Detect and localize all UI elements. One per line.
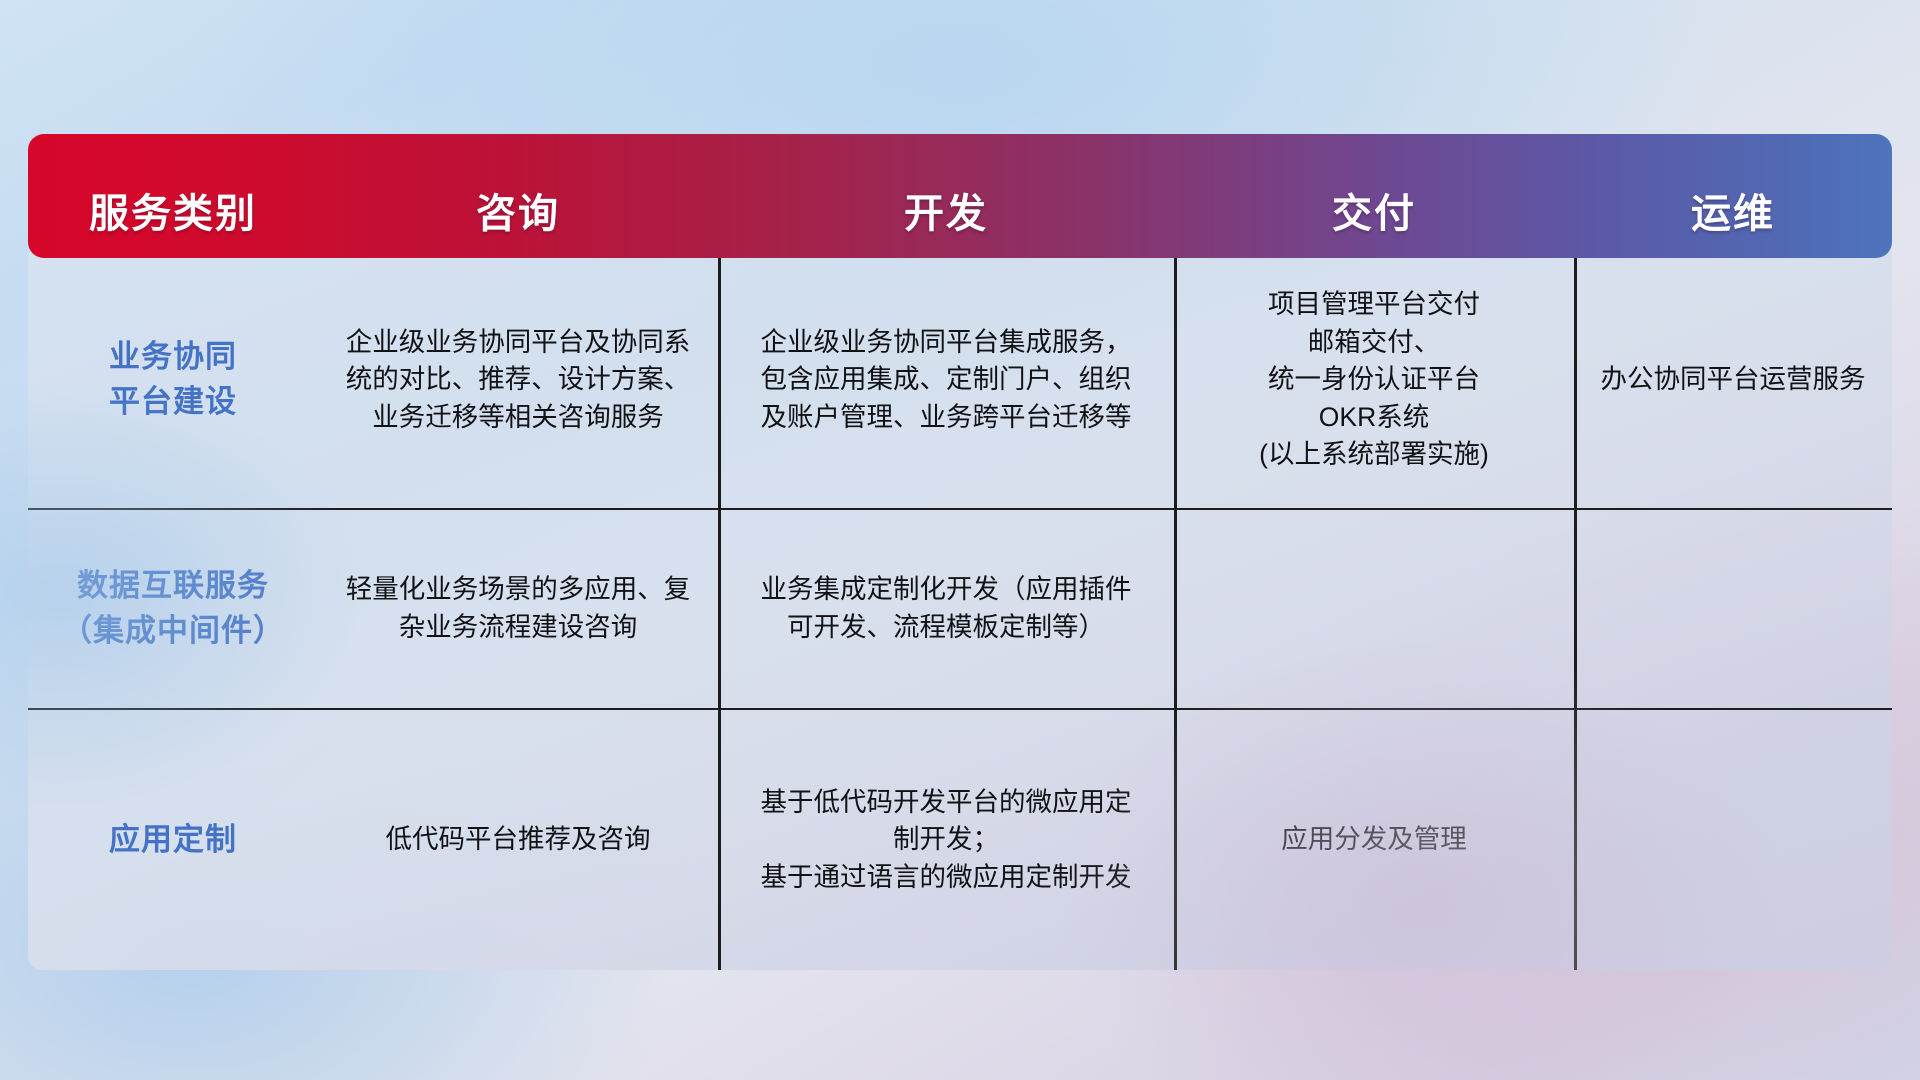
- table-body: 业务协同 平台建设 企业级业务协同平台及协同系 统的对比、推荐、设计方案、 业务…: [28, 252, 1892, 970]
- slide-canvas: 服务类别 咨询 开发 交付 运维 业务协同 平台建设 企业级业务协同平台及协同系…: [0, 0, 1920, 1080]
- cell-delivery: 项目管理平台交付 邮箱交付、 统一身份认证平台 OKR系统 (以上系统部署实施): [1174, 252, 1574, 508]
- table-header-operations: 运维: [1574, 134, 1892, 258]
- cell-operations: [1574, 710, 1892, 970]
- service-matrix-table: 服务类别 咨询 开发 交付 运维 业务协同 平台建设 企业级业务协同平台及协同系…: [28, 134, 1892, 970]
- table-row: 业务协同 平台建设 企业级业务协同平台及协同系 统的对比、推荐、设计方案、 业务…: [28, 252, 1892, 508]
- cell-consulting: 轻量化业务场景的多应用、复 杂业务流程建设咨询: [318, 510, 718, 708]
- cell-development: 企业级业务协同平台集成服务， 包含应用集成、定制门户、组织 及账户管理、业务跨平…: [718, 252, 1174, 508]
- table-header-row: 服务类别 咨询 开发 交付 运维: [28, 134, 1892, 258]
- cell-development: 业务集成定制化开发（应用插件 可开发、流程模板定制等）: [718, 510, 1174, 708]
- cell-delivery: [1174, 510, 1574, 708]
- table-header-service-category: 服务类别: [28, 134, 318, 258]
- cell-consulting: 企业级业务协同平台及协同系 统的对比、推荐、设计方案、 业务迁移等相关咨询服务: [318, 252, 718, 508]
- cell-development: 基于低代码开发平台的微应用定 制开发； 基于通过语言的微应用定制开发: [718, 710, 1174, 970]
- cell-operations: [1574, 510, 1892, 708]
- table-row: 应用定制 低代码平台推荐及咨询 基于低代码开发平台的微应用定 制开发； 基于通过…: [28, 708, 1892, 970]
- row-category-label: 应用定制: [28, 710, 318, 970]
- cell-consulting: 低代码平台推荐及咨询: [318, 710, 718, 970]
- table-header-consulting: 咨询: [318, 134, 718, 258]
- cell-operations: 办公协同平台运营服务: [1574, 252, 1892, 508]
- table-header-development: 开发: [718, 134, 1174, 258]
- row-category-label: 业务协同 平台建设: [28, 252, 318, 508]
- table-row: 数据互联服务 （集成中间件） 轻量化业务场景的多应用、复 杂业务流程建设咨询 业…: [28, 508, 1892, 708]
- cell-delivery: 应用分发及管理: [1174, 710, 1574, 970]
- row-category-label: 数据互联服务 （集成中间件）: [28, 510, 318, 708]
- table-header-delivery: 交付: [1174, 134, 1574, 258]
